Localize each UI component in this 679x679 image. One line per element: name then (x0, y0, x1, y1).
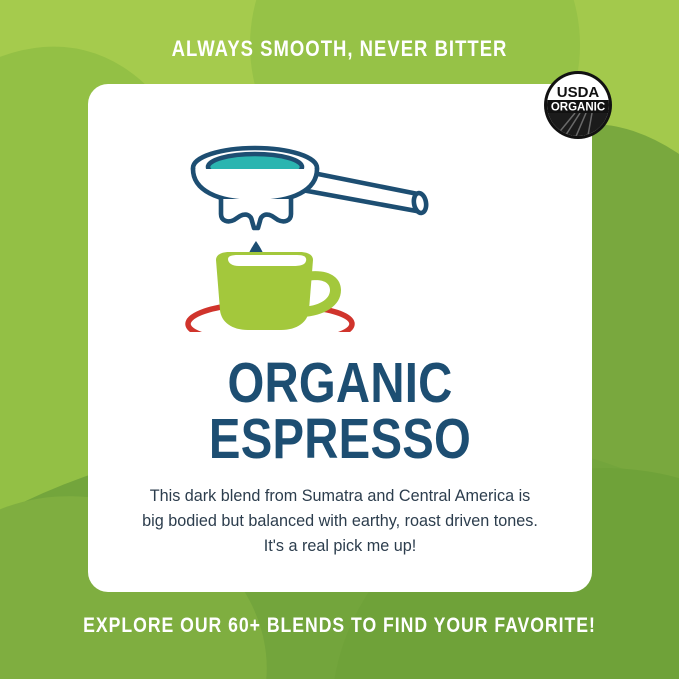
page-title: ORGANIC ESPRESSO (131, 356, 549, 468)
title-line-organic: ORGANIC (131, 356, 549, 412)
coffee-illustration (88, 142, 592, 332)
usda-organic-seal-icon: USDA ORGANIC (542, 69, 614, 141)
title-line-espresso: ESPRESSO (131, 412, 549, 468)
usda-seal-svg: USDA ORGANIC (542, 69, 614, 141)
product-image: ALWAYS SMOOTH, NEVER BITTER (0, 0, 679, 679)
product-description: This dark blend from Sumatra and Central… (140, 484, 540, 559)
product-card: ORGANIC ESPRESSO This dark blend from Su… (88, 84, 592, 592)
bottom-banner-text: EXPLORE OUR 60+ BLENDS TO FIND YOUR FAVO… (54, 614, 624, 638)
seal-usda-label: USDA (557, 84, 600, 101)
coffee-illustration-svg (88, 142, 592, 332)
seal-organic-label: ORGANIC (551, 102, 605, 114)
top-banner-text: ALWAYS SMOOTH, NEVER BITTER (54, 36, 624, 62)
portafilter-icon (193, 148, 428, 228)
coffee-cup-icon (216, 252, 341, 330)
